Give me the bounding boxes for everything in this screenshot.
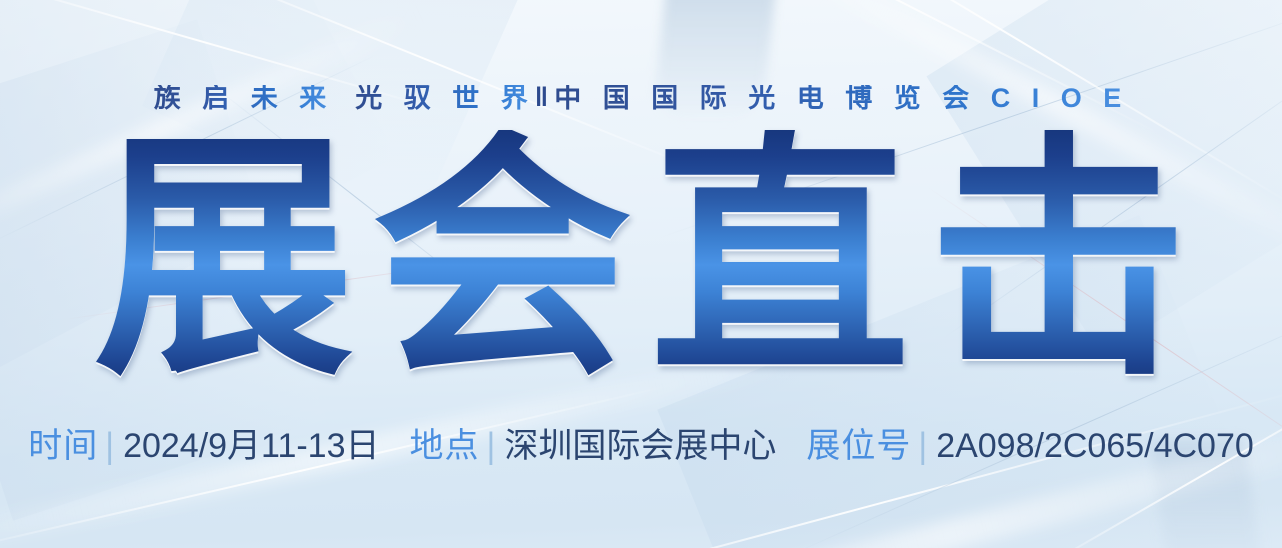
slogan-part-2: 光 驭 世 界 [355,85,535,112]
info-separator: | [487,428,496,464]
info-label-date: 时间 [28,429,98,463]
info-separator: | [105,428,114,464]
info-item-venue: 地点 | 深圳国际会展中心 [410,429,777,463]
info-value-date: 2024/9月11-13日 [123,429,379,463]
event-info-row: 时间 | 2024/9月11-13日 地点 | 深圳国际会展中心 展位号 | 2… [0,418,1282,474]
event-name: 中 国 国 际 光 电 博 览 会 C I O E [554,85,1128,112]
info-value-booth: 2A098/2C065/4C070 [936,429,1254,463]
headline: 展会直击 [0,120,1282,400]
info-value-venue: 深圳国际会展中心 [504,429,776,463]
info-label-venue: 地点 [410,429,480,463]
info-item-booth: 展位号 | 2A098/2C065/4C070 [806,429,1253,463]
event-banner: 族 启 未 来 光 驭 世 界 ‖ 中 国 国 际 光 电 博 览 会 C I … [0,0,1282,548]
info-separator: | [918,428,927,464]
headline-text: 展会直击 [76,130,1206,390]
slogan-part-1: 族 启 未 来 [154,85,334,112]
info-item-date: 时间 | 2024/9月11-13日 [28,429,379,463]
info-label-booth: 展位号 [806,429,911,463]
double-bar-divider-icon: ‖ [535,82,554,113]
